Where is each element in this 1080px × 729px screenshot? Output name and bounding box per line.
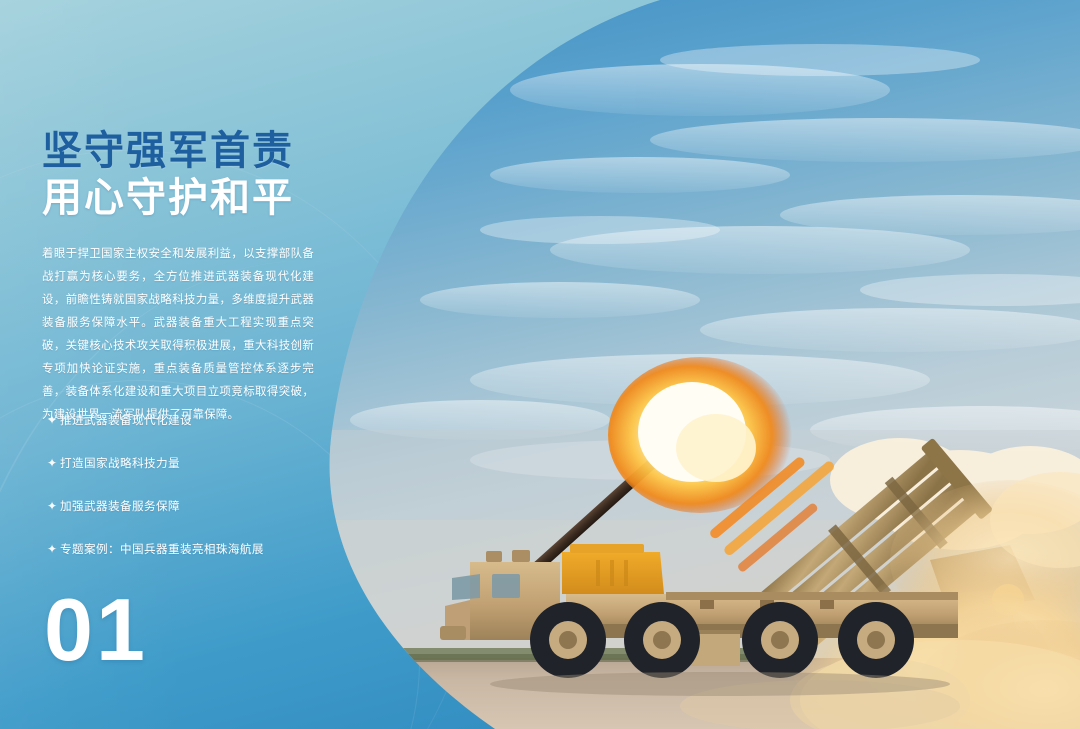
list-item-label: 加强武器装备服务保障 [60, 498, 180, 514]
sparkle-bullet-icon: ✦ [44, 414, 60, 426]
list-item-label: 推进武器装备现代化建设 [60, 412, 192, 428]
page-title: 坚守强军首责 用心守护和平 [42, 128, 342, 222]
section-number: 01 [44, 586, 148, 674]
list-item[interactable]: ✦ 打造国家战略科技力量 [44, 448, 344, 477]
list-item-label: 打造国家战略科技力量 [60, 455, 180, 471]
list-item[interactable]: ✦ 加强武器装备服务保障 [44, 491, 344, 520]
title-line-primary: 坚守强军首责 [42, 128, 342, 175]
sparkle-bullet-icon: ✦ [44, 500, 60, 512]
list-item[interactable]: ✦ 专题案例：中国兵器重装亮相珠海航展 [44, 534, 344, 563]
sparkle-bullet-icon: ✦ [44, 457, 60, 469]
list-item-label: 专题案例：中国兵器重装亮相珠海航展 [60, 541, 264, 557]
body-paragraph: 着眼于捍卫国家主权安全和发展利益，以支撑部队备战打赢为核心要务，全方位推进武器装… [42, 243, 314, 427]
bullet-list: ✦ 推进武器装备现代化建设 ✦ 打造国家战略科技力量 ✦ 加强武器装备服务保障 … [44, 405, 344, 577]
text-column: 坚守强军首责 用心守护和平 着眼于捍卫国家主权安全和发展利益，以支撑部队备战打赢… [0, 0, 360, 729]
report-cover-page: 坚守强军首责 用心守护和平 着眼于捍卫国家主权安全和发展利益，以支撑部队备战打赢… [0, 0, 1080, 729]
sparkle-bullet-icon: ✦ [44, 543, 60, 555]
title-line-secondary: 用心守护和平 [42, 175, 342, 222]
list-item[interactable]: ✦ 推进武器装备现代化建设 [44, 405, 344, 434]
